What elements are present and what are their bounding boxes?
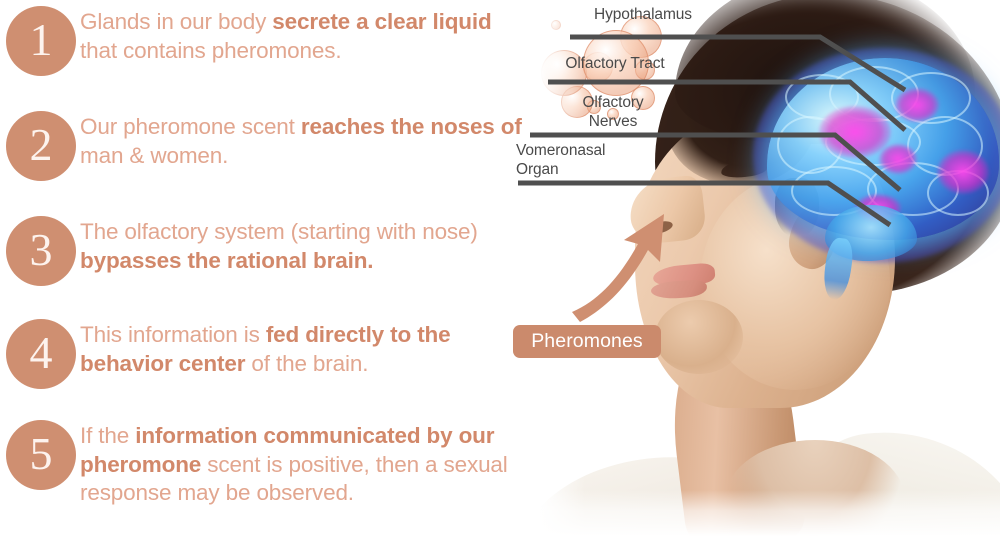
step-number-badge: 1 xyxy=(6,6,76,76)
nose xyxy=(627,174,707,245)
step-number-badge: 3 xyxy=(6,216,76,286)
label-vomeronasal-organ: Vomeronasal Organ xyxy=(516,142,656,179)
left-fade xyxy=(525,0,585,536)
step-number-badge: 2 xyxy=(6,111,76,181)
step-number-badge: 5 xyxy=(6,420,76,490)
step-text: Our pheromone scent reaches the noses of… xyxy=(80,113,525,170)
label-hypothalamus: Hypothalamus xyxy=(578,6,708,25)
steps-list: 1 Glands in our body secrete a clear liq… xyxy=(0,0,525,536)
bottom-fade xyxy=(525,490,1000,536)
step-text: This information is fed directly to the … xyxy=(80,321,525,378)
step-text: If the information communicated by our p… xyxy=(80,422,525,508)
label-olfactory-nerves: Olfactory Nerves xyxy=(553,94,673,131)
anatomy-illustration xyxy=(525,0,1000,536)
label-olfactory-tract: Olfactory Tract xyxy=(545,55,685,74)
step-number-badge: 4 xyxy=(6,319,76,389)
infographic-root: 1 Glands in our body secrete a clear liq… xyxy=(0,0,1000,536)
pheromones-badge: Pheromones xyxy=(513,325,661,358)
step-text: The olfactory system (starting with nose… xyxy=(80,218,525,275)
chin xyxy=(655,300,743,374)
step-text: Glands in our body secrete a clear liqui… xyxy=(80,8,525,65)
